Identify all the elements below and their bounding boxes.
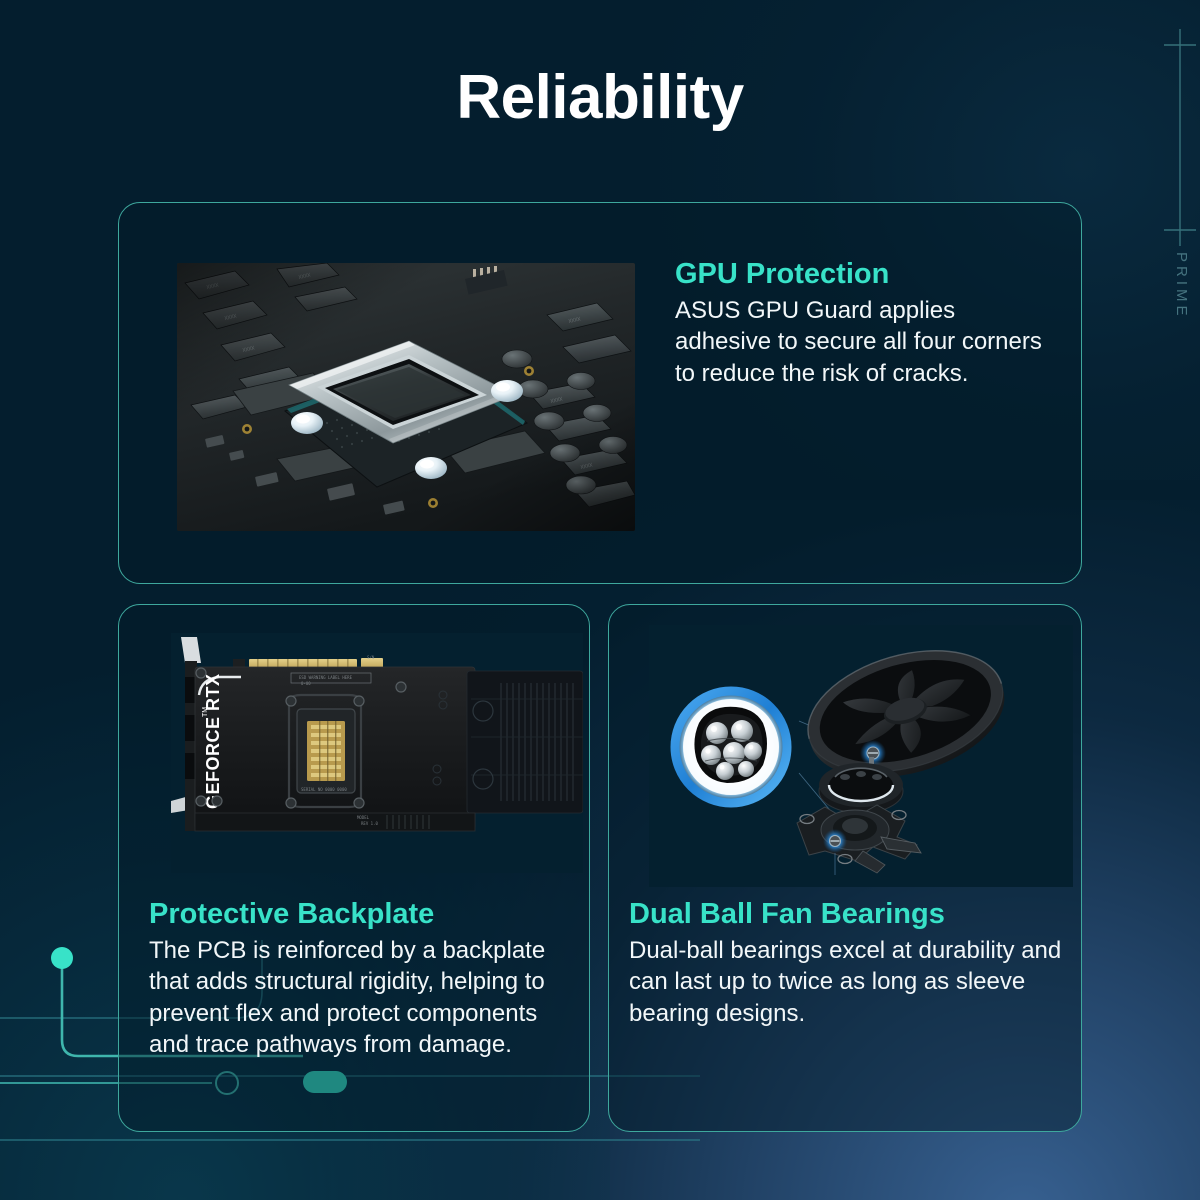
dual-ball-fan-bearings-heading: Dual Ball Fan Bearings [629, 897, 1069, 931]
protective-backplate-text-block: Protective Backplate The PCB is reinforc… [149, 897, 581, 1060]
gpu-protection-text-block: GPU Protection ASUS GPU Guard applies ad… [675, 257, 1045, 389]
backplate-geforce-rtx-label: GEFORCE RTX [203, 673, 223, 809]
protective-backplate-heading: Protective Backplate [149, 897, 581, 931]
reliability-infographic-page: PRIME Reliability [0, 0, 1200, 1200]
svg-text:S/N: S/N [367, 655, 375, 660]
svg-text:REV 1.0: REV 1.0 [361, 821, 378, 826]
gpu-protection-body: ASUS GPU Guard applies adhesive to secur… [675, 295, 1045, 389]
graphics-card-backplate-photo: GEFORCE RTX TM [171, 633, 583, 873]
bearing-magnifier [671, 687, 791, 807]
gpu-die-closeup-photo: XXXX XXXX XXXX XXXX XXXX [177, 263, 635, 531]
page-title: Reliability [0, 62, 1200, 133]
brand-label-prime: PRIME [1173, 252, 1190, 320]
svg-text:0-00: 0-00 [301, 681, 311, 686]
dual-ball-fan-bearings-text-block: Dual Ball Fan Bearings Dual-ball bearing… [629, 897, 1069, 1029]
svg-text:TM: TM [202, 707, 209, 717]
card-dual-ball-fan-bearings: Dual Ball Fan Bearings Dual-ball bearing… [608, 604, 1082, 1132]
svg-text:SERIAL NO 0000 0000: SERIAL NO 0000 0000 [301, 787, 347, 792]
card-gpu-protection: XXXX XXXX XXXX XXXX XXXX [118, 202, 1082, 584]
fan-bearing-exploded-diagram [649, 625, 1073, 887]
svg-text:MODEL: MODEL [357, 815, 370, 820]
protective-backplate-body: The PCB is reinforced by a backplate tha… [149, 935, 581, 1060]
circuit-node-filled-dot [51, 947, 73, 969]
card-protective-backplate: GEFORCE RTX TM [118, 604, 590, 1132]
svg-text:ESD WARNING LABEL HERE: ESD WARNING LABEL HERE [299, 675, 353, 680]
gpu-protection-heading: GPU Protection [675, 257, 1045, 291]
dual-ball-fan-bearings-body: Dual-ball bearings excel at durability a… [629, 935, 1069, 1029]
